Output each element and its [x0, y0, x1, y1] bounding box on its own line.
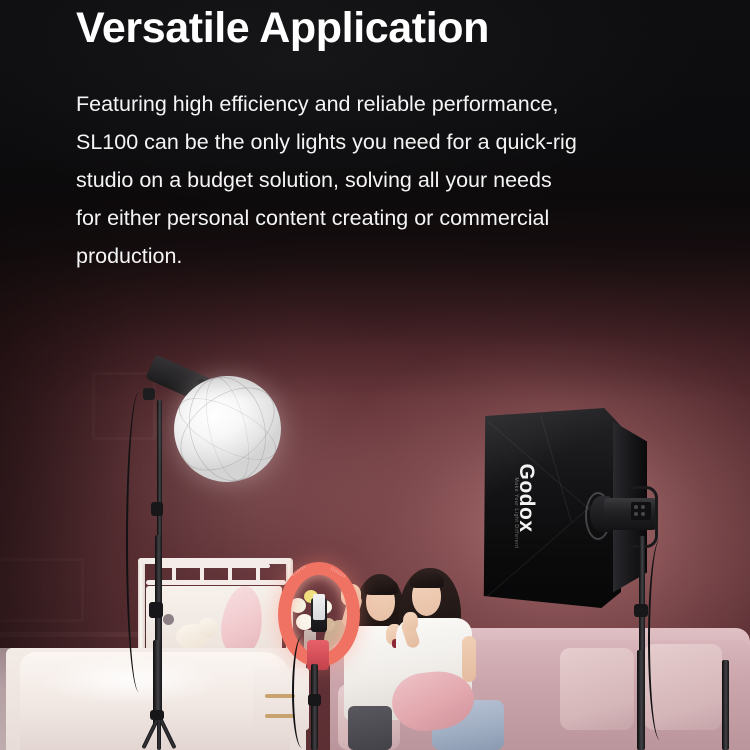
page-title: Versatile Application	[76, 1, 489, 55]
description-line: Featuring high efficiency and reliable p…	[76, 85, 676, 123]
description-line: SL100 can be the only lights you need fo…	[76, 123, 676, 161]
stand-mid	[155, 535, 162, 645]
stand-collar	[149, 602, 163, 618]
sl100-indicator	[641, 512, 645, 516]
stand-upper	[157, 400, 162, 540]
stand-lower	[637, 650, 645, 750]
fringe	[410, 572, 444, 588]
godox-tagline: Make Your Light Different	[511, 475, 521, 551]
stand-collar	[151, 502, 163, 516]
power-cable	[648, 540, 672, 740]
drawer-handle	[265, 694, 295, 698]
plush-toy	[198, 618, 218, 638]
arm	[462, 636, 476, 682]
power-cable	[292, 636, 312, 748]
product-banner: GODOX GODOX Godox Make Your Light Differ…	[0, 0, 750, 750]
tripod-leg	[157, 716, 161, 750]
description-line: studio on a budget solution, solving all…	[76, 161, 676, 199]
fringe	[364, 578, 398, 595]
stand-collar	[634, 604, 648, 617]
pants	[348, 706, 392, 750]
sl100-indicator	[634, 505, 638, 509]
sofa-cushion	[560, 648, 634, 730]
stand-upper	[639, 536, 645, 656]
light-stand-far-right	[722, 660, 729, 750]
ring-light-stand	[311, 664, 318, 750]
power-cable	[126, 392, 152, 692]
hand	[403, 612, 418, 631]
description-line: production.	[76, 237, 676, 275]
bed-rail	[146, 580, 286, 585]
description-line: for either personal content creating or …	[76, 199, 676, 237]
drawer-handle	[265, 714, 295, 718]
sl100-indicator	[634, 512, 638, 516]
tripod-hub	[150, 710, 164, 720]
description-paragraph: Featuring high efficiency and reliable p…	[76, 85, 676, 275]
sl100-indicator	[641, 505, 645, 509]
bed-rail	[160, 564, 270, 568]
bed-knob	[163, 614, 174, 625]
phone[interactable]	[313, 594, 325, 620]
